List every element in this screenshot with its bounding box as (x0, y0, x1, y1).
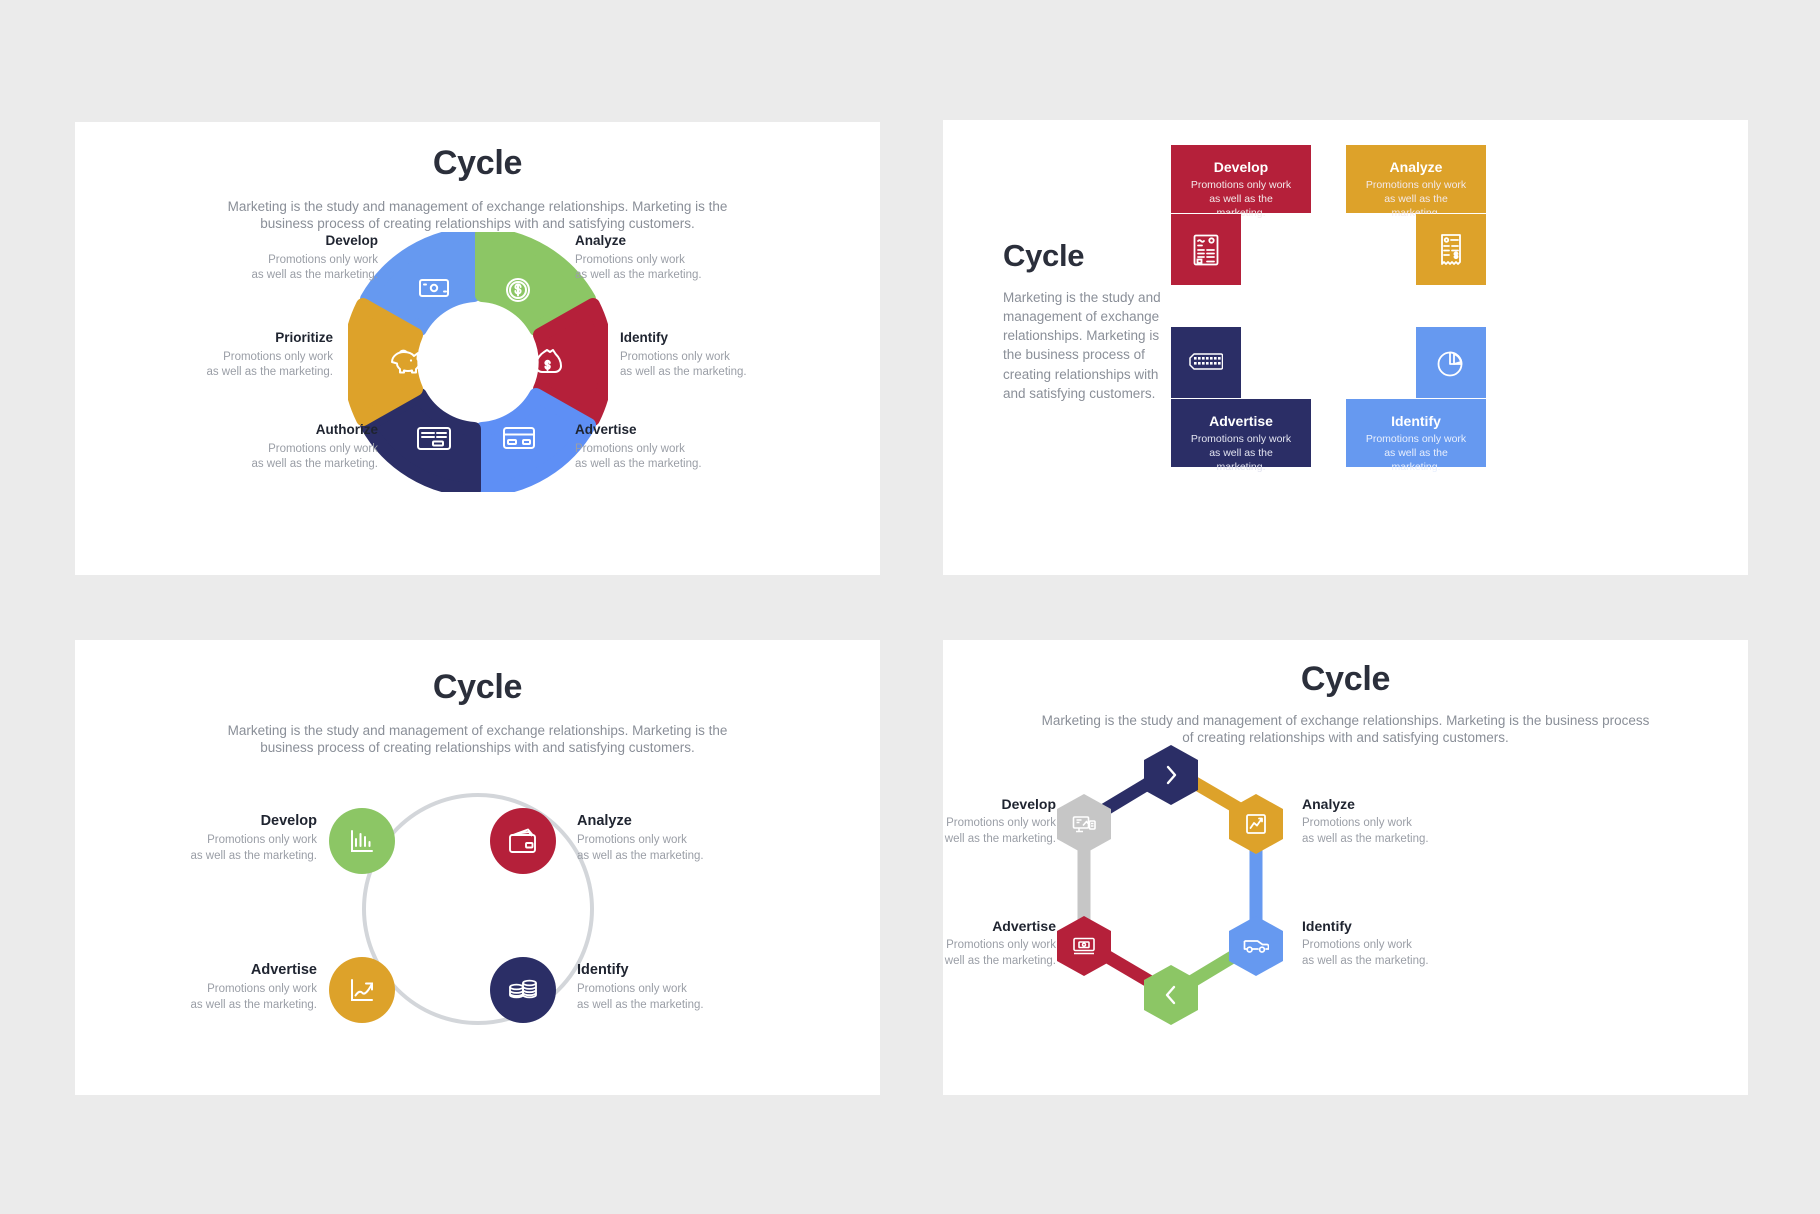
blocks-grid: Develop Promotions only work as well as … (1171, 145, 1741, 550)
block-identify-icon-cell[interactable] (1416, 327, 1486, 398)
circle-ring (362, 793, 594, 1025)
bar-chart-icon (349, 828, 375, 854)
monitor-cash-icon (1072, 936, 1096, 956)
growth-chart-icon (349, 977, 375, 1003)
block-develop-icon-cell[interactable] (1171, 214, 1241, 285)
donut-label-analyze[interactable]: Analyze Promotions only workas well as t… (575, 232, 750, 283)
block-analyze[interactable]: Analyze Promotions only work as well as … (1346, 145, 1486, 213)
block-analyze-icon-cell[interactable] (1416, 214, 1486, 285)
circle-label-advertise[interactable]: Advertise Promotions only workas well as… (147, 962, 317, 1013)
page-title: Cycle (75, 144, 880, 183)
coin-stack-icon (508, 977, 538, 1003)
donut-label-identify[interactable]: Identify Promotions only workas well as … (620, 329, 795, 380)
page-subtitle: Marketing is the study and management of… (208, 723, 748, 757)
donut-diagram: Develop Promotions only workas well as t… (75, 232, 880, 575)
circle-node-develop[interactable] (329, 808, 395, 874)
slide-cycle-hexagon: Cycle Marketing is the study and managem… (943, 640, 1748, 1095)
hexagon-label-identify[interactable]: Identify Promotions only workas well as … (1302, 918, 1472, 969)
donut-label-develop[interactable]: Develop Promotions only workas well as t… (203, 232, 378, 283)
receipt-icon (1439, 233, 1463, 267)
circle-node-identify[interactable] (490, 957, 556, 1023)
circle-node-analyze[interactable] (490, 808, 556, 874)
block-identify[interactable]: Identify Promotions only work as well as… (1346, 399, 1486, 467)
chevron-right-icon (1163, 764, 1179, 786)
donut-segment-advertise[interactable] (482, 395, 589, 490)
page-title: Cycle (943, 660, 1748, 699)
page-subtitle: Marketing is the study and management of… (208, 199, 748, 233)
circle-label-analyze[interactable]: Analyze Promotions only workas well as t… (577, 813, 747, 864)
desktop-icon (1072, 814, 1096, 835)
donut-label-develop-title: Develop (203, 232, 378, 250)
block-advertise[interactable]: Advertise Promotions only work as well a… (1171, 399, 1311, 467)
circle-node-advertise[interactable] (329, 957, 395, 1023)
hexagon-connectors (943, 740, 1748, 1090)
hexagon-label-advertise[interactable]: Advertise Promotions only workas well as… (943, 918, 1056, 969)
circle-label-identify[interactable]: Identify Promotions only workas well as … (577, 962, 747, 1013)
keyboard-icon (1189, 352, 1223, 374)
slide-cycle-circle: Cycle Marketing is the study and managem… (75, 640, 880, 1095)
slide-cycle-donut: Cycle Marketing is the study and managem… (75, 122, 880, 575)
page-title: Cycle (75, 668, 880, 707)
donut-label-advertise[interactable]: Advertise Promotions only workas well as… (575, 421, 750, 472)
hexagon-label-analyze[interactable]: Analyze Promotions only workas well as t… (1302, 796, 1472, 847)
donut-label-prioritize[interactable]: Prioritize Promotions only workas well a… (158, 329, 333, 380)
hexagon-diagram: Develop Promotions only workas well as t… (943, 740, 1748, 1090)
donut-label-authorize[interactable]: Authorize Promotions only workas well as… (203, 421, 378, 472)
wallet-icon (508, 827, 538, 855)
donut-svg (348, 232, 608, 492)
chevron-left-icon (1163, 984, 1179, 1006)
dollar-coin-icon (507, 279, 529, 301)
line-chart-icon (1245, 813, 1267, 835)
checklist-icon (1193, 234, 1219, 266)
circle-label-develop[interactable]: Develop Promotions only workas well as t… (147, 813, 317, 864)
van-icon (1243, 937, 1269, 955)
block-develop[interactable]: Develop Promotions only work as well as … (1171, 145, 1311, 213)
donut-segment-prioritize[interactable] (349, 305, 415, 419)
slide-cycle-blocks: Cycle Marketing is the study and managem… (943, 120, 1748, 575)
donut-label-develop-desc1: Promotions only work (268, 254, 378, 266)
pie-chart-icon (1436, 348, 1466, 378)
circle-diagram: Develop Promotions only workas well as t… (75, 765, 880, 1085)
hexagon-label-develop[interactable]: Develop Promotions only workas well as t… (943, 796, 1056, 847)
block-advertise-icon-cell[interactable] (1171, 327, 1241, 398)
page-subtitle: Marketing is the study and management of… (1003, 288, 1178, 403)
